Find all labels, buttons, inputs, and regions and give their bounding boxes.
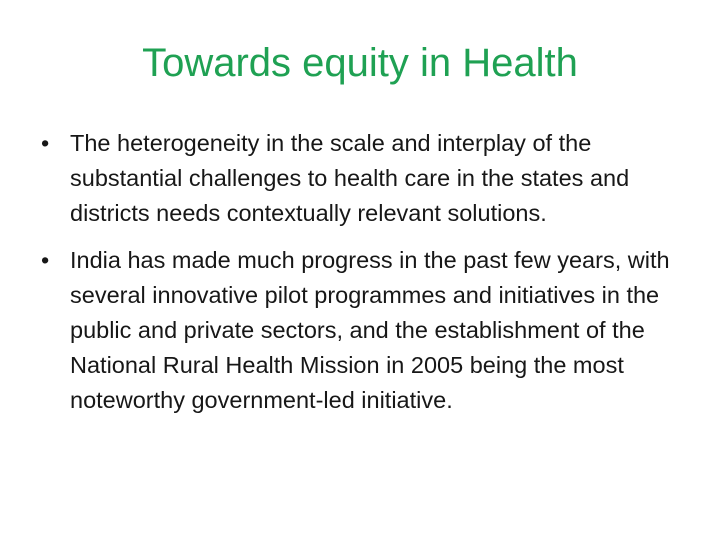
list-item-text: India has made much progress in the past… xyxy=(70,243,678,418)
bullet-point-icon: • xyxy=(41,126,55,161)
list-item: • India has made much progress in the pa… xyxy=(30,243,678,418)
list-item-text: The heterogeneity in the scale and inter… xyxy=(70,126,678,231)
bullet-point-icon: • xyxy=(41,243,55,278)
slide-canvas: Towards equity in Health • The heterogen… xyxy=(0,0,720,540)
slide-body: • The heterogeneity in the scale and int… xyxy=(30,126,678,418)
list-item: • The heterogeneity in the scale and int… xyxy=(30,126,678,231)
page-title: Towards equity in Health xyxy=(0,38,720,88)
